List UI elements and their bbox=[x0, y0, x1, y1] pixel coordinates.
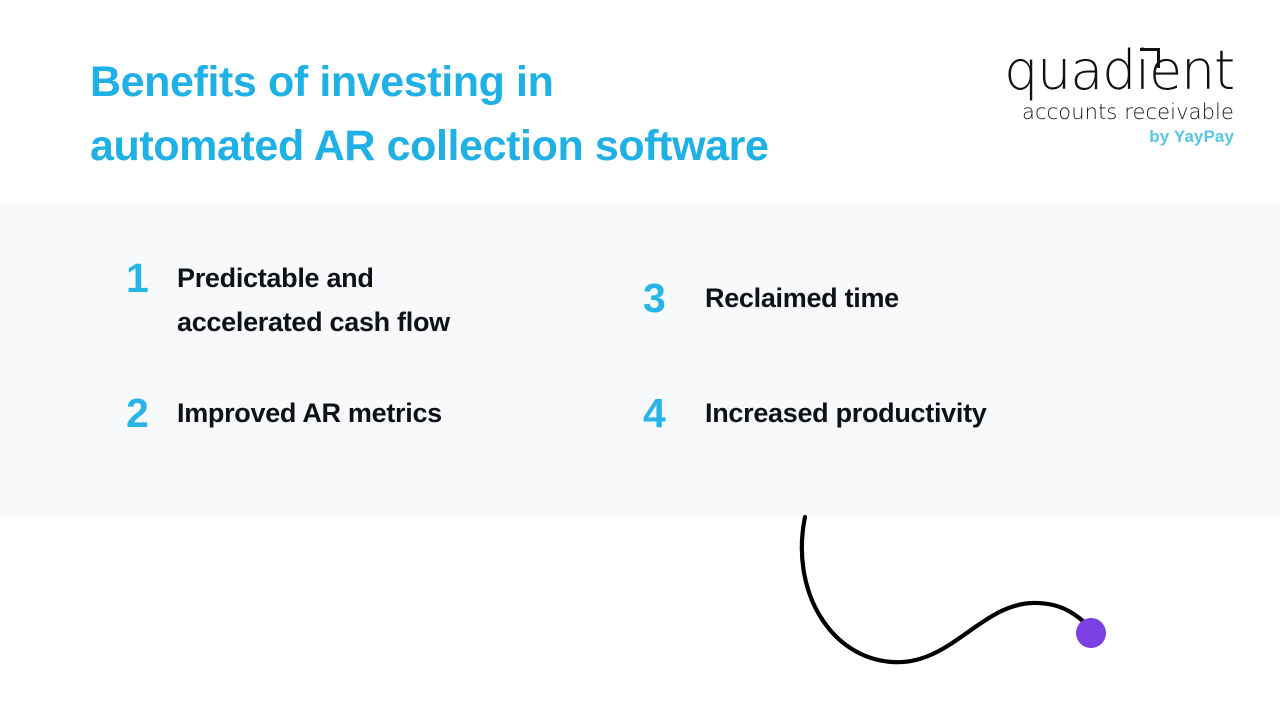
page-title: Benefits of investing in automated AR co… bbox=[90, 50, 950, 178]
decorative-dot-icon bbox=[1076, 618, 1106, 648]
benefit-item: 4 Increased productivity bbox=[643, 391, 987, 435]
decorative-swoosh bbox=[760, 495, 1140, 695]
logo-byline: by YayPay bbox=[992, 126, 1236, 148]
benefit-number: 4 bbox=[643, 391, 705, 435]
benefit-label: Increased productivity bbox=[705, 391, 987, 435]
benefit-number: 2 bbox=[126, 391, 177, 435]
logo-wordmark-text: quadient bbox=[1004, 39, 1234, 102]
benefit-label: Reclaimed time bbox=[705, 276, 899, 320]
benefit-label: Predictable and accelerated cash flow bbox=[177, 256, 450, 344]
slide: Benefits of investing in automated AR co… bbox=[0, 0, 1280, 720]
benefit-number: 3 bbox=[643, 276, 705, 320]
benefits-panel bbox=[0, 203, 1280, 517]
benefit-item: 3 Reclaimed time bbox=[643, 276, 899, 320]
logo-subtitle: accounts receivable bbox=[992, 100, 1236, 124]
quadient-logo: quadient accounts receivable by YayPay bbox=[992, 42, 1236, 146]
benefit-number: 1 bbox=[126, 256, 177, 300]
benefit-label: Improved AR metrics bbox=[177, 391, 442, 435]
benefit-item: 2 Improved AR metrics bbox=[126, 391, 442, 435]
logo-wordmark: quadient bbox=[992, 42, 1236, 100]
logo-corner-tick-icon bbox=[1140, 48, 1160, 68]
decorative-curve-icon bbox=[802, 517, 1094, 662]
slide-header: Benefits of investing in automated AR co… bbox=[0, 0, 1280, 203]
benefit-item: 1 Predictable and accelerated cash flow bbox=[126, 256, 450, 344]
